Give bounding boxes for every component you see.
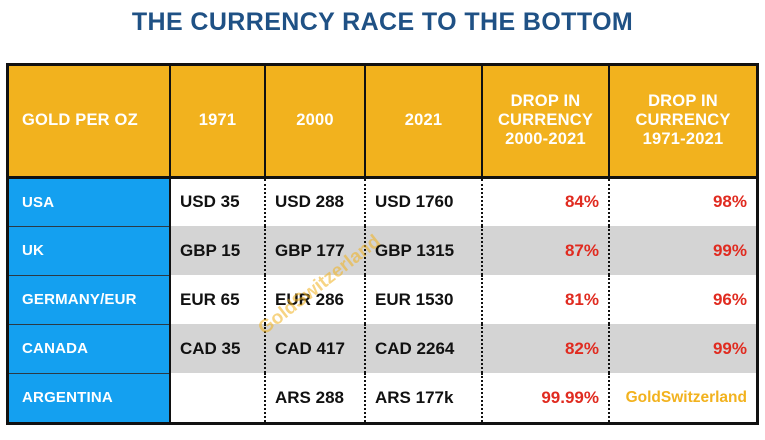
column-header-2000: 2000: [265, 66, 365, 177]
table-row: ARGENTINA ARS 288 ARS 177k 99.99% GoldSw…: [9, 373, 756, 422]
cell-usa-1971: USD 35: [170, 177, 265, 226]
table-row: CANADA CAD 35 CAD 417 CAD 2264 82% 99%: [9, 324, 756, 373]
row-label-argentina: ARGENTINA: [9, 373, 170, 422]
drop-2000-line1: DROP IN: [511, 92, 581, 110]
drop-1971-line1: DROP IN: [648, 92, 718, 110]
brand-label-goldswitzerland: GoldSwitzerland: [609, 373, 756, 422]
table-row: UK GBP 15 GBP 177 GBP 1315 87% 99%: [9, 226, 756, 275]
cell-germany-2021: EUR 1530: [365, 275, 482, 324]
column-header-2021: 2021: [365, 66, 482, 177]
drop-1971-line3: 1971-2021: [643, 130, 724, 148]
row-label-uk: UK: [9, 226, 170, 275]
cell-germany-2000: EUR 286: [265, 275, 365, 324]
drop-2000-line2: CURRENCY: [498, 111, 593, 129]
cell-uk-1971: GBP 15: [170, 226, 265, 275]
drop-2000-line3: 2000-2021: [505, 130, 586, 148]
row-label-canada: CANADA: [9, 324, 170, 373]
cell-argentina-drop-2000-2021: 99.99%: [482, 373, 609, 422]
cell-canada-1971: CAD 35: [170, 324, 265, 373]
cell-argentina-2000: ARS 288: [265, 373, 365, 422]
cell-usa-2000: USD 288: [265, 177, 365, 226]
row-label-usa: USA: [9, 177, 170, 226]
currency-race-table: GOLD PER OZ 1971 2000 2021 DROP IN CURRE…: [9, 66, 756, 422]
cell-canada-drop-2000-2021: 82%: [482, 324, 609, 373]
table-header-row: GOLD PER OZ 1971 2000 2021 DROP IN CURRE…: [9, 66, 756, 177]
cell-uk-drop-2000-2021: 87%: [482, 226, 609, 275]
currency-table-container: GOLD PER OZ 1971 2000 2021 DROP IN CURRE…: [6, 63, 759, 425]
column-header-drop-2000-2021: DROP IN CURRENCY 2000-2021: [482, 66, 609, 177]
cell-argentina-1971: [170, 373, 265, 422]
table-row: USA USD 35 USD 288 USD 1760 84% 98%: [9, 177, 756, 226]
cell-canada-drop-1971-2021: 99%: [609, 324, 756, 373]
cell-usa-drop-1971-2021: 98%: [609, 177, 756, 226]
cell-usa-2021: USD 1760: [365, 177, 482, 226]
cell-canada-2000: CAD 417: [265, 324, 365, 373]
cell-uk-2021: GBP 1315: [365, 226, 482, 275]
cell-germany-drop-2000-2021: 81%: [482, 275, 609, 324]
page-title: THE CURRENCY RACE TO THE BOTTOM: [0, 0, 765, 30]
table-row: GERMANY/EUR EUR 65 EUR 286 EUR 1530 81% …: [9, 275, 756, 324]
drop-1971-line2: CURRENCY: [635, 111, 730, 129]
cell-uk-drop-1971-2021: 99%: [609, 226, 756, 275]
column-header-1971: 1971: [170, 66, 265, 177]
cell-usa-drop-2000-2021: 84%: [482, 177, 609, 226]
cell-germany-1971: EUR 65: [170, 275, 265, 324]
row-label-germany-eur: GERMANY/EUR: [9, 275, 170, 324]
cell-argentina-2021: ARS 177k: [365, 373, 482, 422]
column-header-gold-per-oz: GOLD PER OZ: [9, 66, 170, 177]
column-header-drop-1971-2021: DROP IN CURRENCY 1971-2021: [609, 66, 756, 177]
cell-uk-2000: GBP 177: [265, 226, 365, 275]
cell-canada-2021: CAD 2264: [365, 324, 482, 373]
cell-germany-drop-1971-2021: 96%: [609, 275, 756, 324]
